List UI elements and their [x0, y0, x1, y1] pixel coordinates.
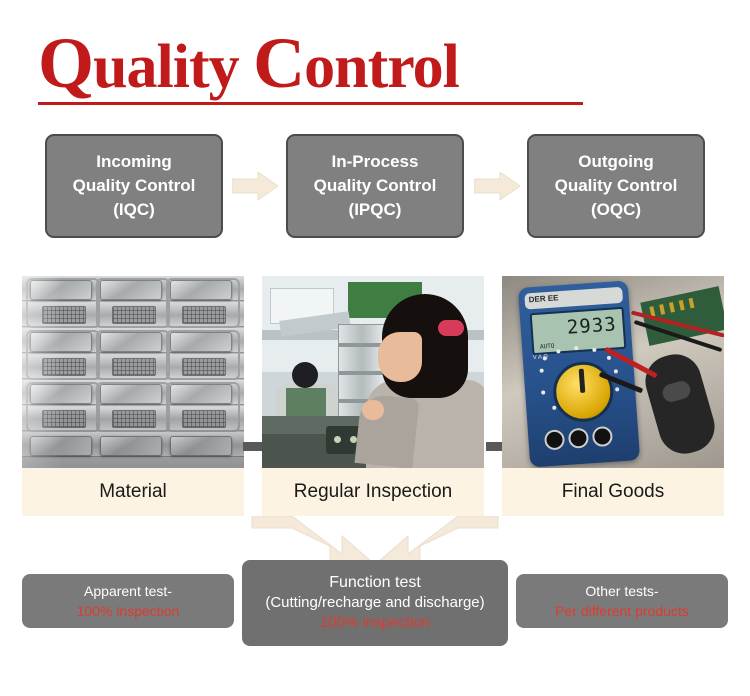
function-test-line2: (Cutting/recharge and discharge)	[265, 593, 484, 613]
page-title: Quality Control	[38, 28, 459, 102]
stage-inprocess-line1: In-Process	[314, 150, 437, 174]
stage-outgoing-line3: (OQC)	[555, 198, 678, 222]
function-test-line1: Function test	[329, 573, 421, 593]
stage-incoming-line1: Incoming	[73, 150, 196, 174]
title-underline	[38, 102, 583, 105]
stage-outgoing-line2: Quality Control	[555, 174, 678, 198]
test-box-function[interactable]: Function test (Cutting/recharge and disc…	[242, 560, 508, 646]
test-row: Apparent test- 100% inspection Function …	[0, 560, 750, 664]
caption-final-goods: Final Goods	[502, 468, 724, 516]
apparent-test-line2: 100% inspection	[77, 601, 180, 621]
stage-row: Incoming Quality Control (IQC) In-Proces…	[0, 134, 750, 242]
apparent-test-line1: Apparent test-	[84, 581, 172, 601]
stage-incoming-line3: (IQC)	[73, 198, 196, 222]
arrow-down-left-icon	[378, 516, 498, 562]
photo-card-regular-inspection: Regular Inspection	[262, 276, 484, 516]
photo-regular-inspection	[262, 276, 484, 468]
arrow-right-icon-1	[232, 172, 278, 200]
test-box-other[interactable]: Other tests- Per different products	[516, 574, 728, 628]
title-block: Quality Control	[0, 28, 750, 106]
test-box-apparent[interactable]: Apparent test- 100% inspection	[22, 574, 234, 628]
function-test-line3: 100% inspection	[320, 613, 430, 633]
photo-row: Material	[0, 276, 750, 516]
photo-material	[22, 276, 244, 468]
metal-brackets-image	[22, 276, 244, 468]
stage-box-incoming[interactable]: Incoming Quality Control (IQC)	[45, 134, 223, 238]
photo-card-material: Material	[22, 276, 244, 516]
photo-final-goods: DER EE 2933 AUTO V A Ω	[502, 276, 724, 468]
meter-sub-label: AUTO	[540, 343, 555, 351]
caption-material: Material	[22, 468, 244, 516]
stage-incoming-line2: Quality Control	[73, 174, 196, 198]
other-tests-line2: Per different products	[555, 601, 689, 621]
stage-box-in-process[interactable]: In-Process Quality Control (IPQC)	[286, 134, 464, 238]
arrow-right-icon-2	[474, 172, 520, 200]
other-tests-line1: Other tests-	[585, 581, 658, 601]
inspection-worker-image	[262, 276, 484, 468]
arrow-down-right-icon	[252, 516, 372, 562]
photo-card-final-goods: DER EE 2933 AUTO V A Ω	[502, 276, 724, 516]
caption-regular-inspection: Regular Inspection	[262, 468, 484, 516]
connector-bar-1	[243, 442, 263, 451]
stage-box-outgoing[interactable]: Outgoing Quality Control (OQC)	[527, 134, 705, 238]
stage-inprocess-line2: Quality Control	[314, 174, 437, 198]
stage-inprocess-line3: (IPQC)	[314, 198, 437, 222]
multimeter-image: DER EE 2933 AUTO V A Ω	[502, 276, 724, 468]
meter-reading: 2933	[566, 313, 617, 338]
page-title-text: Quality Control	[38, 33, 459, 101]
stage-outgoing-line1: Outgoing	[555, 150, 678, 174]
